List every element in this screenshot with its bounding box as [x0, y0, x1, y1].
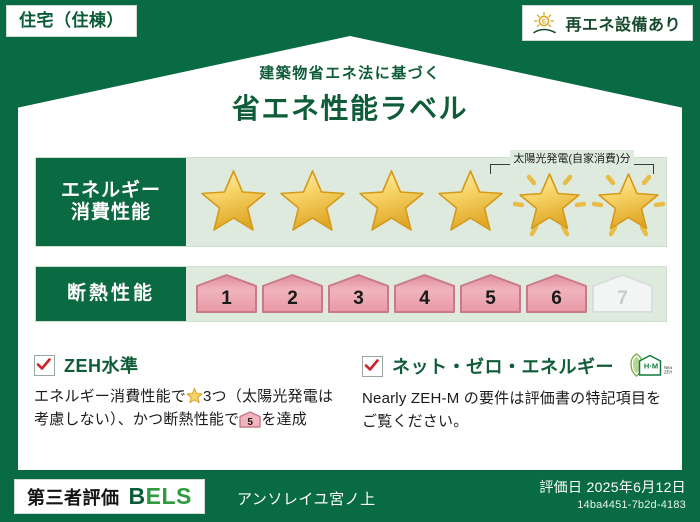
star-6-solar: [591, 165, 666, 239]
star-4: [433, 165, 508, 239]
insulation-level-1-value: 1: [221, 288, 232, 315]
inline-star-icon: [186, 387, 203, 404]
evaluation-date: 評価日 2025年6月12日: [539, 477, 686, 497]
energy-stars-area: 太陽光発電(自家消費)分: [186, 158, 666, 246]
solar-annotation: 太陽光発電(自家消費)分: [482, 149, 662, 167]
insulation-level-3-value: 3: [353, 288, 364, 315]
label-subtitle: 建築物省エネ法に基づく: [0, 62, 700, 83]
third-party-eval-label: 第三者評価: [27, 484, 120, 510]
bels-logo-plate: 第三者評価 BELS: [14, 479, 205, 514]
insulation-level-4: 4: [393, 273, 456, 315]
insulation-level-7: 7: [591, 273, 654, 315]
energy-label-line2: 消費性能: [71, 202, 151, 224]
bels-letters-els: ELS: [146, 483, 192, 509]
insulation-level-2-value: 2: [287, 288, 298, 315]
insulation-level-7-value: 7: [617, 288, 628, 315]
star-2: [275, 165, 350, 239]
star-3: [354, 165, 429, 239]
energy-performance-label: エネルギー 消費性能: [36, 158, 186, 246]
zeh-body-part3: を達成: [261, 411, 307, 428]
property-name: アンソレイユ宮ノ上: [237, 488, 376, 509]
nearly-zeh-m-logo-icon: H·M Nearly ZEH-M: [628, 352, 672, 380]
insulation-level-2: 2: [261, 273, 324, 315]
insulation-performance-row: 断熱性能 1 2: [35, 266, 667, 322]
insulation-level-3: 3: [327, 273, 390, 315]
insulation-levels-area: 1 2 3 4: [186, 267, 666, 321]
zeh-standard-title: ZEH水準: [64, 352, 139, 378]
net-zero-energy-title: ネット・ゼロ・エネルギー: [392, 353, 614, 379]
insulation-level-scale: 1 2 3 4: [186, 273, 654, 315]
label-board: 住宅（住棟） E 再エネ設備あり 建築物省エネ法に基づく: [0, 0, 700, 522]
zehm-logo-main-text: H·M: [644, 362, 658, 371]
zeh-standard-header: ZEH水準: [34, 352, 344, 378]
insulation-level-1: 1: [195, 273, 258, 315]
evaluation-date-label: 評価日: [539, 479, 582, 495]
renewable-energy-label: 再エネ設備あり: [565, 11, 681, 35]
star-1: [196, 165, 271, 239]
insulation-level-4-value: 4: [419, 288, 430, 315]
inline-house-badge: 5: [239, 411, 261, 428]
energy-performance-row: エネルギー 消費性能: [35, 157, 667, 247]
category-tag: 住宅（住棟）: [6, 5, 137, 37]
zehm-logo-sub2: ZEH-M: [664, 370, 672, 375]
insulation-level-6-value: 6: [551, 288, 562, 315]
solar-sun-icon-svg: E: [532, 11, 558, 35]
footer: 第三者評価 BELS アンソレイユ宮ノ上 評価日 2025年6月12日 14ba…: [0, 470, 700, 522]
page-title: 省エネ性能ラベル: [0, 87, 700, 127]
insulation-level-6: 6: [525, 273, 588, 315]
evaluation-id: 14ba4451-7b2d-4183: [539, 499, 686, 511]
evaluation-info: 評価日 2025年6月12日 14ba4451-7b2d-4183: [539, 477, 686, 511]
checkbox-checked-icon: [34, 355, 55, 376]
star-rating: [186, 165, 666, 239]
inline-house-badge-value: 5: [239, 418, 261, 428]
insulation-performance-label: 断熱性能: [36, 267, 186, 321]
net-zero-energy-block: ネット・ゼロ・エネルギー H·M Nearly ZEH-M Nearly ZEH…: [362, 352, 672, 434]
svg-text:E: E: [542, 20, 546, 26]
solar-sun-icon: E: [532, 11, 558, 35]
star-5-solar: [512, 165, 587, 239]
renewable-energy-badge: E 再エネ設備あり: [522, 5, 693, 41]
net-zero-energy-body: Nearly ZEH-M の要件は評価書の特記項目をご覧ください。: [362, 387, 672, 434]
title-block: 建築物省エネ法に基づく 省エネ性能ラベル: [0, 62, 700, 127]
insulation-level-5-value: 5: [485, 288, 496, 315]
bels-letter-b: B: [129, 483, 146, 509]
solar-annotation-text: 太陽光発電(自家消費)分: [510, 150, 633, 166]
zeh-body-part1: エネルギー消費性能で: [34, 388, 186, 405]
zeh-standard-body: エネルギー消費性能で3つ（太陽光発電は考慮しない）、かつ断熱性能で5を達成: [34, 385, 344, 432]
insulation-level-5: 5: [459, 273, 522, 315]
checkbox-checked-icon: [362, 356, 383, 377]
bels-wordmark: BELS: [129, 483, 192, 510]
energy-label-line1: エネルギー: [61, 180, 161, 202]
evaluation-date-value: 2025年6月12日: [586, 479, 686, 495]
zeh-standard-block: ZEH水準 エネルギー消費性能で3つ（太陽光発電は考慮しない）、かつ断熱性能で5…: [34, 352, 344, 432]
net-zero-energy-header: ネット・ゼロ・エネルギー H·M Nearly ZEH-M: [362, 352, 672, 380]
